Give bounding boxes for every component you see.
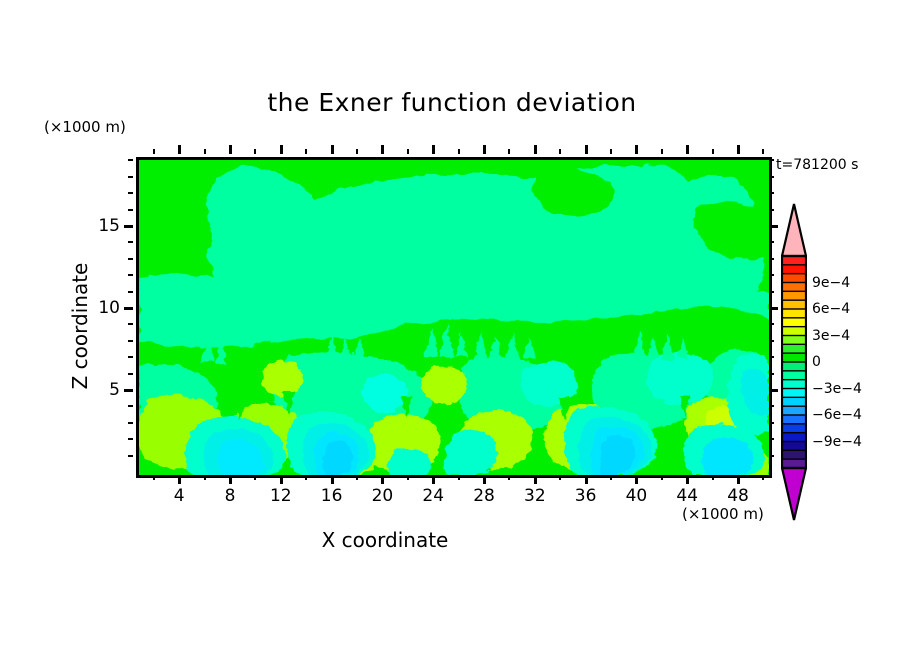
- y-tick-11: [128, 291, 133, 293]
- colorbar-label-6: −9e−4: [812, 434, 862, 450]
- x-tick-top-32: [534, 145, 537, 154]
- x-tick-top-18: [356, 149, 358, 154]
- x-tick-label-28: 28: [473, 486, 495, 506]
- y-tick-right-18: [769, 176, 774, 178]
- colorbar-swatches: [781, 203, 807, 521]
- y-tick-16: [128, 209, 133, 211]
- colorbar-over-arrow: [782, 204, 806, 256]
- x-tick-label-40: 40: [626, 486, 648, 506]
- x-tick-22: [407, 475, 409, 480]
- colorbar-band-4: [782, 291, 806, 300]
- x-tick-20: [381, 475, 384, 484]
- colorbar-label-1: 6e−4: [812, 301, 850, 317]
- figure-canvas: the Exner function deviation (×1000 m) t…: [0, 0, 904, 654]
- x-tick-top-2: [153, 149, 155, 154]
- x-tick-label-20: 20: [372, 486, 394, 506]
- contour-plot-area: [136, 157, 772, 478]
- colorbar-band-19: [782, 424, 806, 433]
- x-tick-top-30: [508, 149, 510, 154]
- x-tick-label-16: 16: [321, 486, 343, 506]
- x-tick-top-10: [254, 149, 256, 154]
- y-axis-title: Z coordinate: [68, 216, 92, 436]
- y-tick-right-4: [769, 405, 774, 407]
- y-tick-18: [128, 176, 133, 178]
- x-tick-18: [356, 475, 358, 480]
- y-tick-7: [128, 356, 133, 358]
- y-tick-right-3: [769, 422, 774, 424]
- x-tick-24: [432, 475, 435, 484]
- y-tick-10: [124, 307, 133, 310]
- page-title: the Exner function deviation: [0, 88, 904, 117]
- colorbar-band-16: [782, 397, 806, 406]
- x-tick-top-12: [280, 145, 283, 154]
- colorbar-label-0: 9e−4: [812, 275, 850, 291]
- y-tick-5: [124, 389, 133, 392]
- x-tick-top-16: [331, 145, 334, 154]
- colorbar-band-1: [782, 265, 806, 274]
- y-tick-1: [128, 455, 133, 457]
- y-tick-12: [128, 274, 133, 276]
- y-tick-19: [128, 159, 133, 161]
- x-tick-14: [305, 475, 307, 480]
- x-tick-top-8: [229, 145, 232, 154]
- y-tick-17: [128, 192, 133, 194]
- x-tick-2: [153, 475, 155, 480]
- y-tick-9: [128, 323, 133, 325]
- colorbar-band-12: [782, 362, 806, 371]
- y-tick-right-12: [769, 274, 774, 276]
- colorbar-label-4: −3e−4: [812, 381, 862, 397]
- y-tick-right-16: [769, 209, 774, 211]
- y-tick-right-8: [769, 340, 774, 342]
- x-tick-top-24: [432, 145, 435, 154]
- x-tick-40: [635, 475, 638, 484]
- colorbar-band-9: [782, 336, 806, 345]
- y-tick-8: [128, 340, 133, 342]
- x-tick-top-42: [661, 149, 663, 154]
- x-tick-top-38: [610, 149, 612, 154]
- colorbar-band-5: [782, 300, 806, 309]
- colorbar[interactable]: [781, 203, 807, 521]
- y-tick-3: [128, 422, 133, 424]
- y-tick-15: [124, 225, 133, 228]
- x-tick-26: [458, 475, 460, 480]
- x-tick-top-6: [204, 149, 206, 154]
- x-tick-10: [254, 475, 256, 480]
- x-tick-42: [661, 475, 663, 480]
- colorbar-band-11: [782, 353, 806, 362]
- x-tick-label-12: 12: [270, 486, 292, 506]
- colorbar-label-5: −6e−4: [812, 407, 862, 423]
- x-tick-label-8: 8: [225, 486, 236, 506]
- x-tick-top-46: [712, 149, 714, 154]
- x-tick-38: [610, 475, 612, 480]
- x-tick-12: [280, 475, 283, 484]
- x-tick-8: [229, 475, 232, 484]
- x-tick-30: [508, 475, 510, 480]
- y-tick-right-6: [769, 373, 774, 375]
- x-tick-top-4: [178, 145, 181, 154]
- x-tick-44: [686, 475, 689, 484]
- x-tick-28: [483, 475, 486, 484]
- x-tick-top-50: [762, 149, 764, 154]
- colorbar-band-7: [782, 318, 806, 327]
- colorbar-band-10: [782, 344, 806, 353]
- timestamp-annotation: t=781200 s: [776, 157, 858, 173]
- x-tick-top-44: [686, 145, 689, 154]
- colorbar-band-17: [782, 406, 806, 415]
- x-tick-48: [737, 475, 740, 484]
- y-tick-right-1: [769, 455, 774, 457]
- x-tick-top-36: [585, 145, 588, 154]
- colorbar-band-0: [782, 256, 806, 265]
- x-tick-16: [331, 475, 334, 484]
- colorbar-band-20: [782, 433, 806, 442]
- colorbar-band-22: [782, 450, 806, 459]
- y-tick-right-10: [769, 307, 778, 310]
- colorbar-band-3: [782, 283, 806, 292]
- y-tick-right-15: [769, 225, 778, 228]
- colorbar-label-2: 3e−4: [812, 328, 850, 344]
- x-tick-top-22: [407, 149, 409, 154]
- colorbar-label-3: 0: [812, 354, 821, 370]
- x-tick-4: [178, 475, 181, 484]
- y-tick-6: [128, 373, 133, 375]
- x-tick-top-20: [381, 145, 384, 154]
- y-tick-14: [128, 241, 133, 243]
- y-tick-right-13: [769, 258, 774, 260]
- y-tick-4: [128, 405, 133, 407]
- x-tick-50: [762, 475, 764, 480]
- x-tick-top-34: [559, 149, 561, 154]
- colorbar-band-18: [782, 415, 806, 424]
- y-tick-right-9: [769, 323, 774, 325]
- y-tick-right-2: [769, 438, 774, 440]
- x-tick-top-14: [305, 149, 307, 154]
- x-tick-46: [712, 475, 714, 480]
- colorbar-under-arrow: [782, 468, 806, 520]
- colorbar-band-14: [782, 380, 806, 389]
- y-tick-2: [128, 438, 133, 440]
- x-tick-label-24: 24: [422, 486, 444, 506]
- y-tick-right-11: [769, 291, 774, 293]
- x-tick-top-28: [483, 145, 486, 154]
- z-axis-units-label: (×1000 m): [44, 118, 126, 136]
- y-tick-13: [128, 258, 133, 260]
- x-tick-top-26: [458, 149, 460, 154]
- x-tick-label-36: 36: [575, 486, 597, 506]
- x-tick-6: [204, 475, 206, 480]
- x-axis-title: X coordinate: [0, 528, 770, 552]
- contour-field: [139, 160, 769, 475]
- colorbar-band-6: [782, 309, 806, 318]
- y-tick-right-7: [769, 356, 774, 358]
- x-tick-top-48: [737, 145, 740, 154]
- colorbar-band-8: [782, 327, 806, 336]
- x-tick-label-48: 48: [727, 486, 749, 506]
- x-tick-label-44: 44: [676, 486, 698, 506]
- x-tick-34: [559, 475, 561, 480]
- colorbar-band-13: [782, 371, 806, 380]
- x-tick-label-4: 4: [174, 486, 185, 506]
- y-tick-right-17: [769, 192, 774, 194]
- y-tick-right-5: [769, 389, 778, 392]
- colorbar-band-15: [782, 389, 806, 398]
- colorbar-band-21: [782, 442, 806, 451]
- y-tick-right-14: [769, 241, 774, 243]
- x-axis-units-label: (×1000 m): [682, 505, 764, 523]
- x-tick-label-32: 32: [524, 486, 546, 506]
- y-tick-right-19: [769, 159, 774, 161]
- x-tick-top-40: [635, 145, 638, 154]
- colorbar-band-2: [782, 274, 806, 283]
- x-tick-36: [585, 475, 588, 484]
- x-tick-32: [534, 475, 537, 484]
